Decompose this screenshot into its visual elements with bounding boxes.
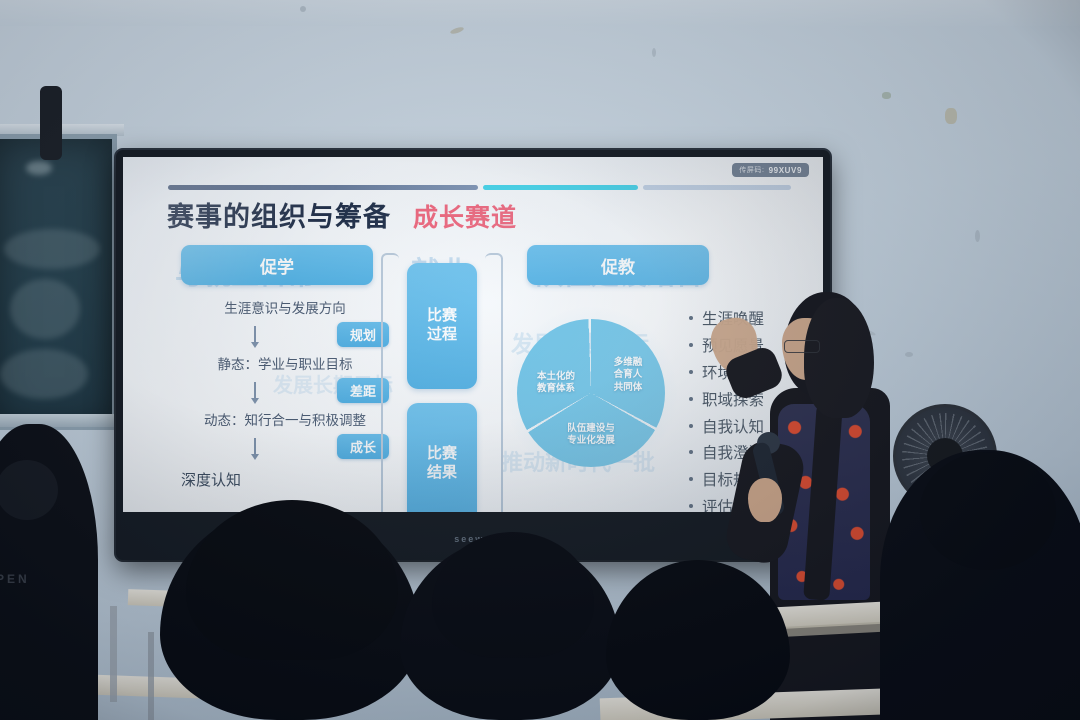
bullet-label: 自我认知 <box>702 415 764 437</box>
pie-label-1: 本土化的 教育体系 <box>523 371 589 396</box>
bullet-dot-icon <box>689 343 693 347</box>
bullet-dot-icon <box>689 450 693 454</box>
chair-leg <box>110 606 117 702</box>
bracket-left <box>381 253 399 512</box>
slide-title-row: 赛事的组织与筹备 成长赛道 <box>167 195 517 234</box>
right-column-header: 促教 <box>527 245 709 285</box>
middle-box-process: 比赛 过程 <box>407 263 477 389</box>
bullet-dot-icon <box>689 424 693 428</box>
screen-cast-code-badge: 传屏码: 99XUV9 <box>732 163 809 177</box>
middle-box-result-line1: 比赛 <box>427 445 457 464</box>
classroom-photo-scene: 传屏码: 99XUV9 赛事的组织与筹备 成长赛道 与就业日常 就业 队伍建 <box>0 0 1080 720</box>
pie-label-1-line1: 本土化的 <box>523 371 589 383</box>
fan-stand <box>40 86 62 160</box>
student-fr-head <box>920 452 1056 570</box>
middle-box-result: 比赛 结果 <box>407 403 477 512</box>
presenter-hair-back <box>804 298 874 418</box>
middle-column: 比赛 过程 比赛 结果 <box>381 253 501 512</box>
presenter-hand-mic <box>748 478 782 522</box>
student-jacket-text: PEN <box>0 572 42 584</box>
left-column-footer: 深度认知 <box>181 469 291 490</box>
pie-chart: 本土化的 教育体系 多维融 合育人 共同体 队伍建设与 专业化发展 <box>517 319 665 467</box>
list-item: 自我认知 <box>689 412 764 439</box>
left-column: 促学 生涯意识与发展方向 规划 静态：学业与职业目标 差距 <box>181 245 389 490</box>
wall-mark <box>300 6 306 12</box>
middle-box-result-line2: 结果 <box>427 464 457 483</box>
pie-label-2-line3: 共同体 <box>597 382 659 394</box>
left-header-label: 促学 <box>260 253 294 278</box>
slide-title: 赛事的组织与筹备 <box>167 195 391 234</box>
title-bar-3 <box>643 185 791 190</box>
chalkboard <box>0 134 117 430</box>
title-bar-1 <box>168 185 478 190</box>
middle-box-process-line1: 比赛 <box>427 307 457 326</box>
bullet-dot-icon <box>689 316 693 320</box>
slide-title-accent: 成长赛道 <box>413 198 517 234</box>
right-header-label: 促教 <box>601 253 635 278</box>
left-step-text-3: 动态：知行合一与积极调整 <box>178 409 392 429</box>
bullet-dot-icon <box>689 504 693 508</box>
left-column-header: 促学 <box>181 245 373 285</box>
pie-label-3-line1: 队伍建设与 <box>547 423 635 435</box>
screen-cast-code-label: 传屏码: <box>739 165 764 175</box>
wall-mark <box>652 48 656 57</box>
wall-smudge <box>945 108 957 124</box>
wall-mark <box>905 352 913 357</box>
bullet-dot-icon <box>689 370 693 374</box>
pie-label-2-line2: 合育人 <box>597 369 659 381</box>
wall-smudge <box>882 92 891 99</box>
chair-leg <box>148 632 154 720</box>
glasses-icon <box>784 340 820 353</box>
wall-mark <box>975 230 980 242</box>
bullet-dot-icon <box>689 397 693 401</box>
down-arrow-icon <box>254 438 256 456</box>
down-arrow-icon <box>254 382 256 400</box>
pie-label-2: 多维融 合育人 共同体 <box>597 357 659 394</box>
title-bar-2 <box>483 185 638 190</box>
pie-label-3: 队伍建设与 专业化发展 <box>547 423 635 448</box>
title-decoration-bars <box>168 185 791 190</box>
down-arrow-icon <box>254 326 256 344</box>
left-step-text-2: 静态：学业与职业目标 <box>181 353 389 373</box>
pie-label-1-line2: 教育体系 <box>523 383 589 395</box>
bracket-right <box>485 253 503 512</box>
ceiling-trim <box>0 0 1080 26</box>
screen-cast-code-value: 99XUV9 <box>769 166 802 175</box>
right-column: 促教 <box>527 245 709 285</box>
left-step-text-1: 生涯意识与发展方向 <box>181 297 389 317</box>
bullet-dot-icon <box>689 477 693 481</box>
pie-label-2-line1: 多维融 <box>597 357 659 369</box>
middle-box-process-line2: 过程 <box>427 326 457 345</box>
pie-label-3-line2: 专业化发展 <box>547 435 635 447</box>
